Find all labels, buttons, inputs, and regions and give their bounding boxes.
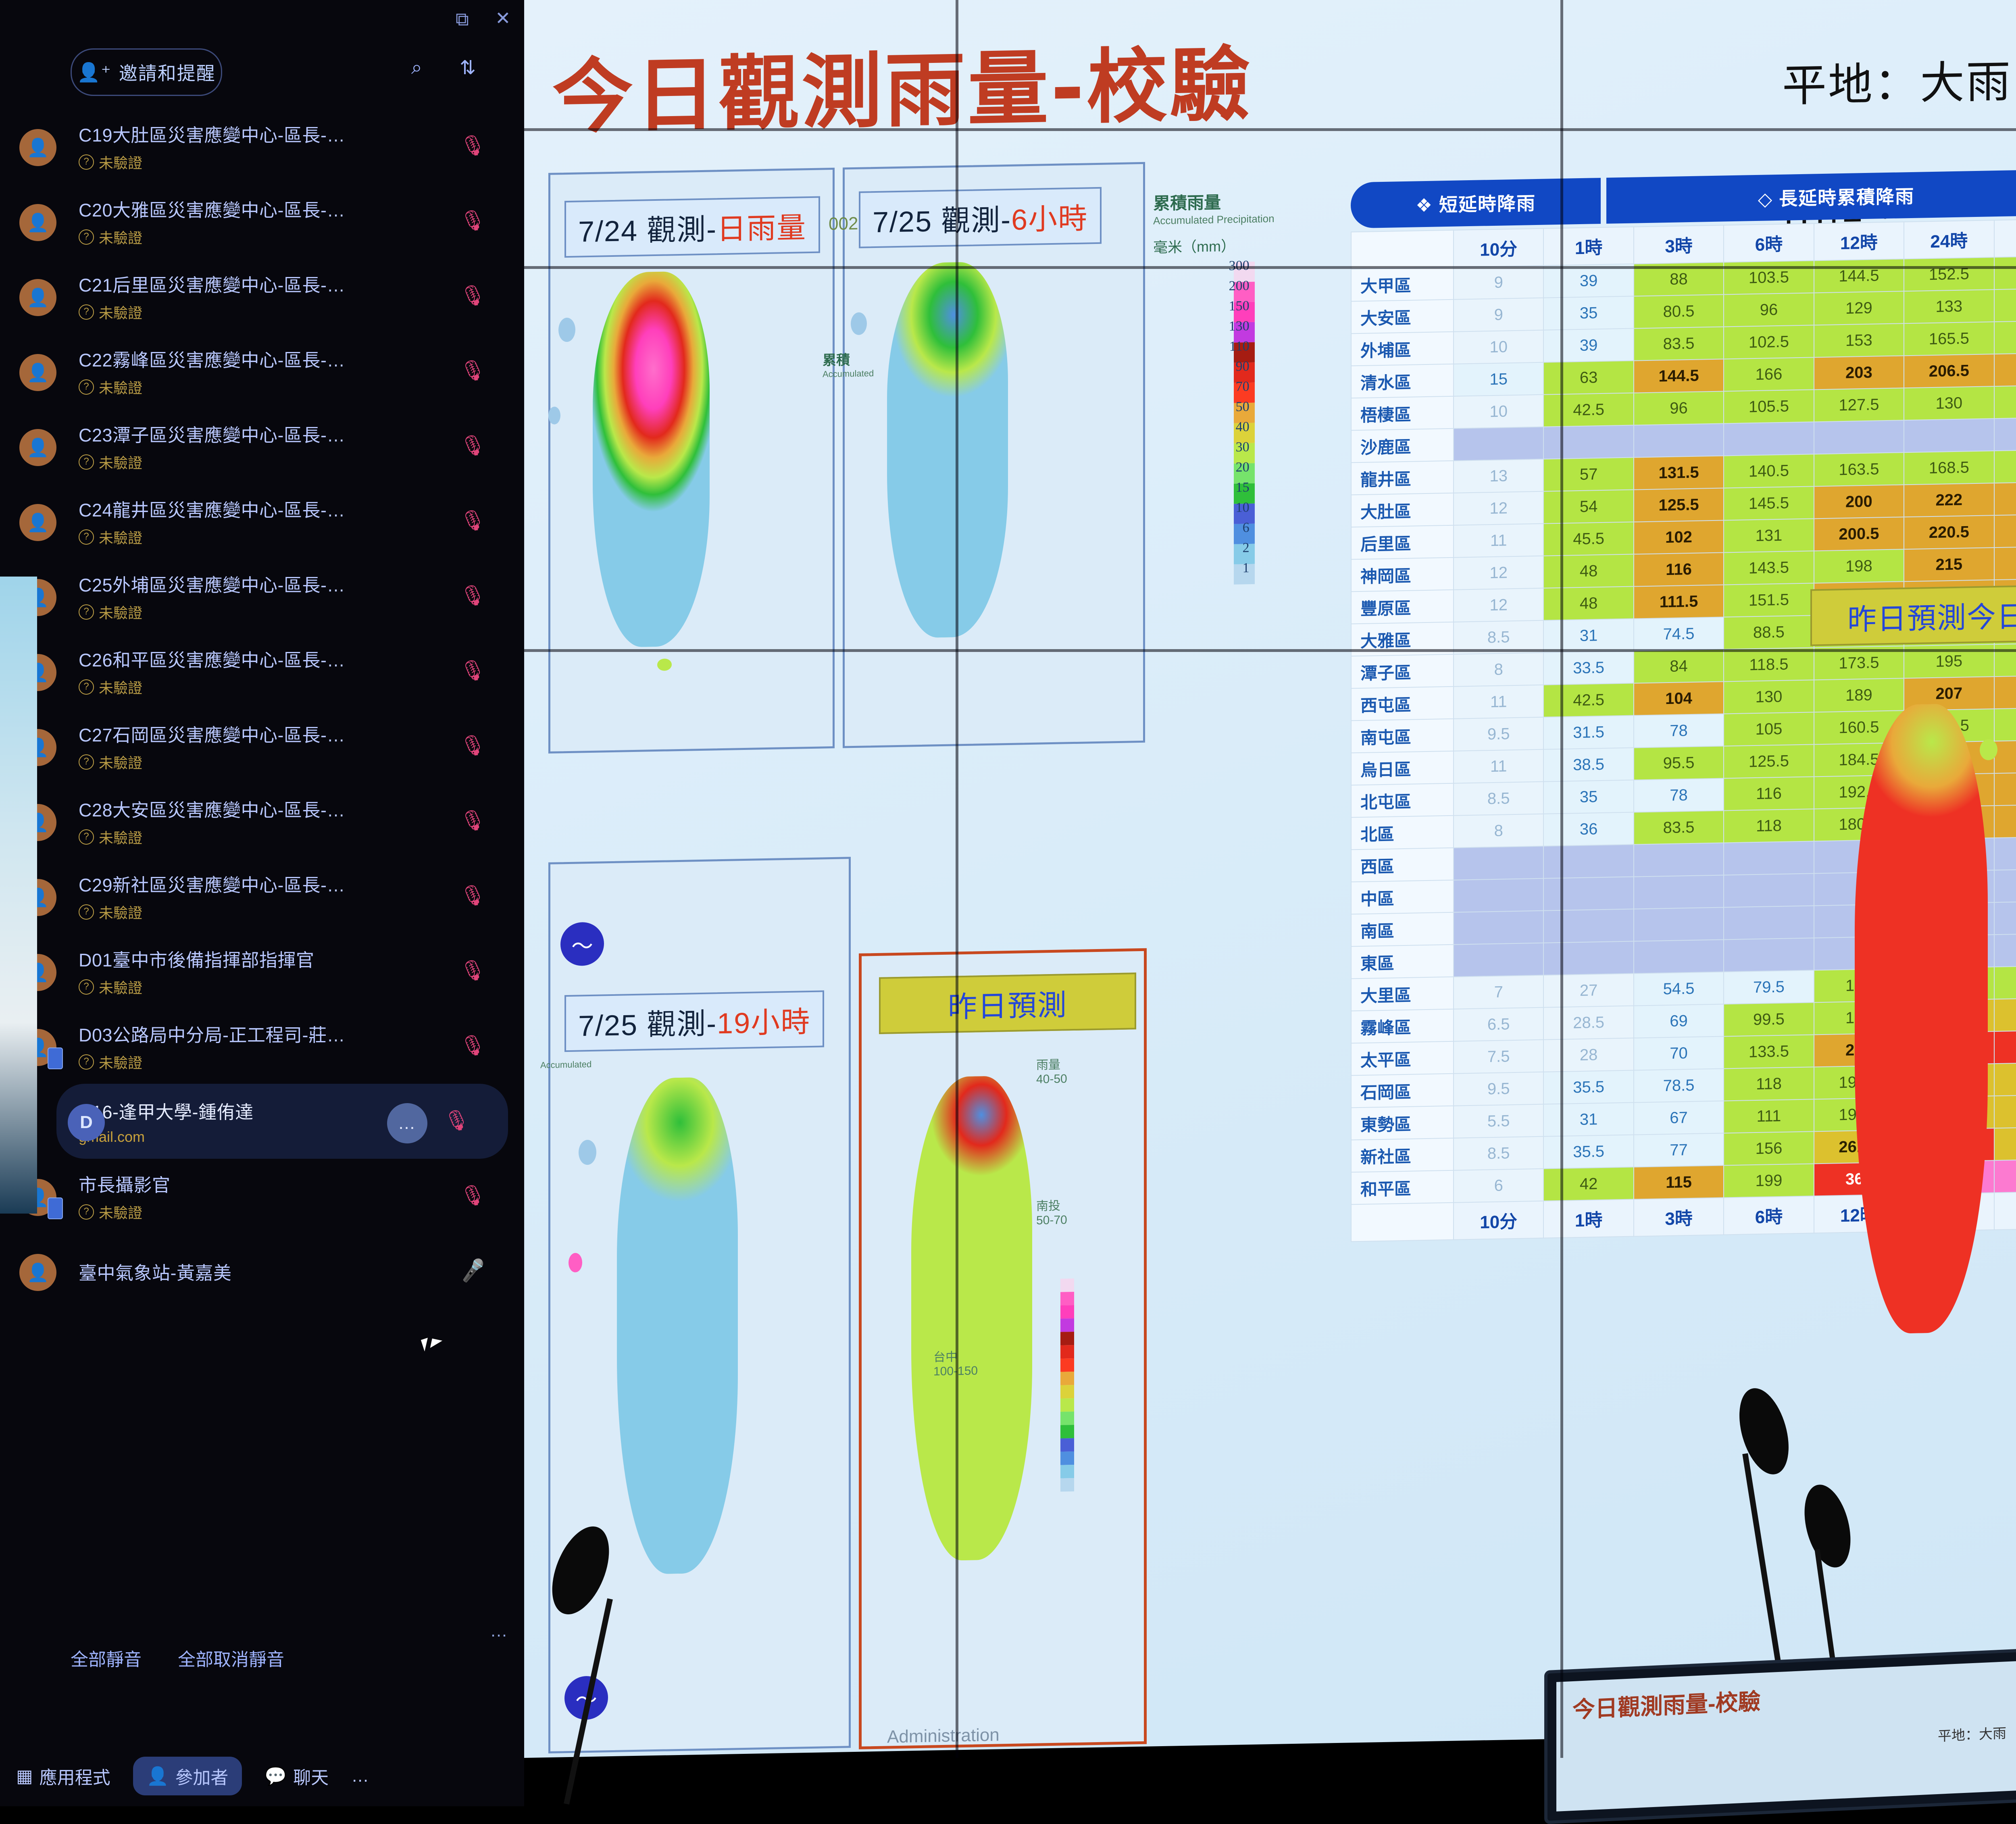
avatar: 👤 — [19, 279, 56, 316]
table-cell: 83.5 — [1634, 327, 1724, 360]
question-icon: ? — [79, 754, 94, 770]
table-row-region: 東區 — [1351, 945, 1454, 979]
participant-status: ?未驗證 — [79, 977, 314, 997]
participants-icon: 👤 — [147, 1766, 169, 1787]
question-icon: ? — [79, 904, 94, 920]
table-cell: 35 — [1543, 296, 1633, 330]
invite-label: 邀請和提醒 — [119, 59, 216, 85]
table-cell: 140.5 — [1724, 454, 1814, 488]
table-cell: 78 — [1634, 778, 1724, 812]
legend-tick-label: 130 — [1229, 319, 1250, 334]
table-column-header: 3時 — [1634, 225, 1724, 264]
microphone-muted-icon[interactable]: 🎙 — [458, 957, 487, 984]
question-icon: ? — [79, 1204, 94, 1220]
participant-status-label: 未驗證 — [99, 152, 142, 173]
participant-status: ?未驗證 — [79, 827, 345, 847]
table-cell: 118 — [1724, 1067, 1814, 1101]
microphone-muted-icon[interactable]: 🎙 — [458, 432, 487, 459]
participant-row[interactable]: 👤C27石岡區災害應變中心-區長-…?未驗證🎙 — [0, 709, 524, 784]
toolbar-apps-button[interactable]: ▦ 應用程式 — [16, 1763, 110, 1789]
table-cell: 38.5 — [1543, 748, 1633, 782]
group-header-short-label: 短延時降雨 — [1439, 193, 1536, 215]
table-cell: 118.5 — [1724, 648, 1814, 681]
table-cell: 203 — [1814, 356, 1904, 389]
table-cell: 163.5 — [1814, 452, 1904, 486]
participant-list[interactable]: 👤C19大肚區災害應變中心-區長-…?未驗證🎙👤C20大雅區災害應變中心-區長-… — [0, 109, 524, 1593]
participant-row[interactable]: 👤D03公路局中分局-正工程司-莊…?未驗證🎙 — [0, 1009, 524, 1084]
participant-status-label: 未驗證 — [99, 227, 142, 248]
table-cell: 78.5 — [1634, 1068, 1724, 1102]
table-column-header: 12時 — [1814, 222, 1904, 260]
adjacent-display-sliver — [0, 577, 37, 1214]
table-row-region: 大肚區 — [1351, 493, 1454, 527]
table-cell — [1724, 422, 1814, 456]
table-cell: 130 — [1904, 386, 1994, 420]
table-footer-header: 1時 — [1543, 1199, 1633, 1238]
participant-row[interactable]: 👤C19大肚區災害應變中心-區長-…?未驗證🎙 — [0, 109, 524, 184]
participant-row[interactable]: 👤C22霧峰區災害應變中心-區長-…?未驗證🎙 — [0, 334, 524, 409]
table-cell: 8.5 — [1454, 1137, 1543, 1170]
table-cell: 42 — [1543, 1167, 1633, 1201]
table-cell: 69 — [1634, 1004, 1724, 1038]
forecast-legend — [1060, 1272, 1074, 1492]
microphone-muted-icon[interactable]: 🎙 — [458, 1032, 487, 1059]
microphone-muted-icon[interactable]: 🎙 — [458, 282, 487, 309]
participant-name: C19大肚區災害應變中心-區長-… — [79, 121, 345, 147]
table-cell: 11 — [1454, 750, 1543, 783]
table-cell: 131 — [1724, 518, 1814, 552]
laptop-screen: 今日觀測雨量-校驗 平地：大雨 — [1544, 1648, 2016, 1824]
table-cell: 95.5 — [1634, 746, 1724, 780]
table-cell: 145.5 — [1724, 486, 1814, 520]
table-cell: 130 — [1724, 680, 1814, 714]
participant-status-label: 未驗證 — [99, 902, 142, 922]
table-cell: 8.5 — [1454, 782, 1543, 816]
toolbar-apps-label: 應用程式 — [40, 1763, 110, 1789]
laptop-slide-title: 今日觀測雨量-校驗 — [1572, 1683, 1761, 1724]
forecast-colorbar — [1060, 1278, 1074, 1492]
table-row-region: 梧棲區 — [1351, 396, 1454, 431]
participant-name: C24龍井區災害應變中心-區長-… — [79, 496, 345, 522]
legend-title: 累積雨量 — [1153, 188, 1275, 215]
laptop-slide-subtitle: 平地：大雨 — [1938, 1722, 2006, 1745]
table-row-region: 太平區 — [1351, 1041, 1454, 1076]
table-cell — [1543, 941, 1633, 975]
participant-row[interactable]: 👤D01臺中市後備指揮部指揮官?未驗證🎙 — [0, 934, 524, 1009]
legend-swatch — [1060, 1332, 1074, 1345]
table-cell — [1724, 938, 1814, 972]
table-cell: 168.5 — [1904, 451, 1994, 485]
laptop-slide-preview: 今日觀測雨量-校驗 平地：大雨 — [1556, 1660, 2016, 1812]
table-cell — [1724, 841, 1814, 875]
toolbar-chat-button[interactable]: 💬 聊天 — [264, 1763, 329, 1789]
participant-status: ?未驗證 — [79, 527, 345, 548]
microphone-muted-icon[interactable]: 🎙 — [458, 132, 487, 159]
avatar: 👤 — [19, 429, 56, 466]
legend-swatch — [1060, 1438, 1074, 1452]
table-cell: 211 — [1994, 546, 2016, 580]
map-label-725-19h: 7/25 觀測-19小時 — [564, 990, 824, 1052]
microphone-muted-icon[interactable]: 🎙 — [458, 1182, 487, 1209]
table-cell: 116 — [1724, 777, 1814, 810]
table-footer-header: 10分 — [1454, 1201, 1543, 1240]
legend-tick-label: 90 — [1236, 359, 1250, 375]
table-row-region: 大安區 — [1351, 300, 1454, 334]
table-cell: 166 — [1724, 357, 1814, 391]
participant-status-label: 未驗證 — [99, 302, 142, 323]
table-cell: 5.5 — [1454, 1104, 1543, 1138]
table-row-region: 烏日區 — [1351, 751, 1454, 785]
participant-row[interactable]: 👤市長攝影官?未驗證🎙 — [0, 1159, 524, 1234]
rain-short-icon: ❖ — [1416, 194, 1439, 216]
participant-row[interactable]: 👤C23潭子區災害應變中心-區長-…?未驗證🎙 — [0, 409, 524, 484]
video-conference-panel: ⧉ ✕ 👤⁺ 邀請和提醒 ⌕ ⇅ 👤C19大肚區災害應變中心-區長-…?未驗證🎙… — [0, 0, 524, 1806]
table-cell — [1814, 420, 1904, 454]
participant-name: D01臺中市後備指揮部指揮官 — [79, 945, 314, 972]
table-row-region: 中區 — [1351, 880, 1454, 914]
table-column-header: 24時 — [1904, 220, 1994, 259]
participant-row[interactable]: DD16-逢甲大學-鍾侑達gmail.com…🎙 — [56, 1084, 508, 1159]
participant-name: C26和平區災害應變中心-區長-… — [79, 645, 345, 672]
microphone-muted-icon[interactable]: 🎙 — [458, 807, 487, 834]
participant-status: ?未驗證 — [79, 752, 345, 772]
table-cell: 12 — [1454, 588, 1543, 622]
table-cell: 102 — [1634, 520, 1724, 554]
participant-status: gmail.com — [79, 1129, 254, 1145]
table-cell: 151.5 — [1994, 256, 2016, 289]
avatar: 👤 — [19, 504, 56, 541]
table-footer-header: 6時 — [1724, 1196, 1814, 1235]
table-cell: 57 — [1543, 458, 1633, 491]
participant-status: ?未驗證 — [79, 152, 345, 173]
phone-badge-icon — [48, 1047, 63, 1069]
question-icon: ? — [79, 154, 94, 170]
forecast-legend-mini-label2: 南投50-70 — [1036, 1195, 1067, 1227]
legend-tick-label: 6 — [1243, 520, 1250, 535]
map-label-725-6h-hl: 6小時 — [1011, 202, 1088, 236]
microphone-icon[interactable]: 🎤 — [459, 1257, 487, 1284]
participant-name: C25外埔區災害應變中心-區長-… — [79, 571, 345, 597]
table-cell: 222 — [1904, 483, 1994, 517]
microphone-muted-icon[interactable]: 🎙 — [442, 1107, 471, 1134]
table-cell: 31 — [1543, 1103, 1633, 1137]
table-cell: 102.5 — [1724, 325, 1814, 359]
table-row-region: 龍井區 — [1351, 461, 1454, 495]
participant-status-label: 未驗證 — [99, 527, 142, 548]
legend-swatch — [1060, 1478, 1074, 1492]
table-cell — [1543, 425, 1633, 459]
table-cell: 7.5 — [1454, 1040, 1543, 1074]
table-cell: 167.5 — [1994, 449, 2016, 483]
legend-small-title-en: Accumulated — [823, 368, 874, 379]
table-cell — [1634, 843, 1724, 877]
participant-status: ?未驗證 — [79, 1201, 171, 1222]
vc-bottom-toolbar: ▦ 應用程式 👤 參加者 💬 聊天 … — [0, 1746, 524, 1806]
taiwan-forecast-today-map — [1806, 665, 2016, 1460]
table-cell: 153 — [1814, 323, 1904, 357]
table-cell: 125.5 — [1634, 488, 1724, 522]
table-group-headers: ❖ 短延時降雨 ◇ 長延時累積降雨 — [1351, 169, 2016, 228]
participant-status-label: 未驗證 — [99, 452, 142, 473]
table-cell: 9.5 — [1454, 1072, 1543, 1106]
table-cell: 104 — [1634, 681, 1724, 715]
table-cell: 78 — [1634, 714, 1724, 748]
table-cell: 35.5 — [1543, 1070, 1633, 1104]
table-column-header: 6時 — [1724, 223, 1814, 262]
table-cell: 42.5 — [1543, 393, 1633, 427]
table-cell — [1454, 879, 1543, 912]
person-add-icon: 👤⁺ — [77, 61, 112, 83]
plain-rain-statement: 平地：大雨 — [1782, 45, 2012, 114]
mute-controls: 全部靜音 全部取消靜音 — [71, 1645, 284, 1671]
table-row-region: 豐原區 — [1351, 590, 1454, 624]
legend-small: 累積 Accumulated — [823, 348, 874, 379]
avatar: 👤 — [19, 1254, 56, 1291]
table-cell: 133 — [1904, 289, 1994, 323]
table-cell: 45.5 — [1543, 522, 1633, 556]
forecast-legend-mini-label: 雨量40-50 — [1036, 1054, 1067, 1086]
table-cell: 96 — [1724, 293, 1814, 327]
participant-status: ?未驗證 — [79, 377, 345, 398]
microphone-muted-icon[interactable]: 🎙 — [458, 357, 487, 384]
participant-row[interactable]: 👤C24龍井區災害應變中心-區長-…?未驗證🎙 — [0, 484, 524, 559]
table-cell: 116 — [1634, 552, 1724, 586]
group-header-short: ❖ 短延時降雨 — [1351, 178, 1601, 228]
table-column-header: 10分 — [1454, 229, 1543, 267]
table-cell: 70 — [1634, 1036, 1724, 1070]
table-cell: 144.5 — [1814, 259, 1904, 293]
table-cell: 83.5 — [1634, 810, 1724, 844]
table-cell: 77 — [1634, 1133, 1724, 1167]
legend-swatch — [1060, 1385, 1074, 1399]
legend-swatch — [1060, 1465, 1074, 1478]
table-cell: 131.5 — [1634, 456, 1724, 489]
table-cell: 84 — [1634, 649, 1724, 683]
table-row-region: 和平區 — [1351, 1170, 1454, 1205]
table-cell: 74.5 — [1634, 617, 1724, 651]
participant-row[interactable]: 👤臺中氣象站-黃嘉美🎤 — [0, 1234, 524, 1309]
participant-status-label: 未驗證 — [99, 752, 142, 772]
participant-name: C28大安區災害應變中心-區長-… — [79, 795, 345, 822]
participant-name: C29新社區災害應變中心-區長-… — [79, 870, 345, 897]
participant-status-label: 未驗證 — [99, 977, 142, 997]
table-row-region: 北屯區 — [1351, 783, 1454, 818]
table-row-region: 潭子區 — [1351, 654, 1454, 689]
legend-swatch — [1060, 1305, 1074, 1319]
table-column-header: 1時 — [1543, 227, 1633, 266]
toolbar-participants-button[interactable]: 👤 參加者 — [133, 1757, 242, 1795]
table-cell: 8 — [1454, 653, 1543, 687]
microphone-muted-icon[interactable]: 🎙 — [458, 207, 487, 234]
table-cell: 129 — [1814, 291, 1904, 325]
table-cell: 27 — [1543, 974, 1633, 1008]
participant-status: ?未驗證 — [79, 902, 345, 922]
table-cell: 31.5 — [1543, 716, 1633, 750]
table-cell: 111.5 — [1634, 585, 1724, 618]
microphone-muted-icon[interactable]: 🎙 — [458, 507, 487, 534]
table-cell: 125.5 — [1724, 744, 1814, 778]
table-cell: 206.5 — [1904, 354, 1994, 388]
participant-row[interactable]: 👤C29新社區災害應變中心-區長-…?未驗證🎙 — [0, 859, 524, 934]
table-cell: 111 — [1724, 1099, 1814, 1133]
table-cell: 156 — [1724, 1131, 1814, 1165]
participant-status: ?未驗證 — [79, 602, 345, 623]
table-cell: 118 — [1724, 809, 1814, 843]
legend-swatch — [1060, 1278, 1074, 1292]
table-cell: 10 — [1454, 395, 1543, 429]
table-cell: 200.5 — [1814, 517, 1904, 551]
table-cell: 6.5 — [1454, 1008, 1543, 1041]
table-cell: 133.5 — [1724, 1035, 1814, 1068]
table-cell: 130 — [1994, 385, 2016, 419]
toolbar-chat-label: 聊天 — [293, 1763, 329, 1789]
panel-more-icon[interactable]: … — [490, 1621, 508, 1641]
table-cell: 88.5 — [1724, 615, 1814, 649]
table-cell — [1454, 846, 1543, 880]
question-icon: ? — [79, 604, 94, 620]
table-row-region: 北區 — [1351, 816, 1454, 850]
participant-status: ?未驗證 — [79, 302, 345, 323]
table-cell: 198 — [1814, 549, 1904, 583]
table-footer-header — [1351, 1203, 1454, 1242]
projected-slide: 今日觀測雨量-校驗 7/24 觀測-日雨量 〜 7/25 觀測-6小時 0020… — [524, 0, 2016, 1758]
sort-icon[interactable]: ⇅ — [460, 56, 476, 79]
legend-tick-label: 1 — [1243, 560, 1250, 576]
table-cell — [1543, 845, 1633, 879]
table-row-region: 西屯區 — [1351, 687, 1454, 721]
question-icon: ? — [79, 829, 94, 845]
legend-swatch — [1060, 1451, 1074, 1465]
apps-icon: ▦ — [16, 1766, 33, 1787]
table-cell: 7 — [1454, 975, 1543, 1009]
new-window-icon[interactable]: ⧉ — [456, 8, 469, 31]
table-cell: 36 — [1543, 812, 1633, 846]
table-cell: 99.5 — [1724, 1002, 1814, 1036]
participant-status-label: 未驗證 — [99, 377, 142, 398]
participant-row[interactable]: 👤C21后里區災害應變中心-區長-…?未驗證🎙 — [0, 259, 524, 334]
legend-tick-label: 50 — [1236, 399, 1250, 415]
table-cell — [1634, 875, 1724, 909]
projector-seam-vertical-1 — [956, 0, 958, 1758]
participant-status-label: 未驗證 — [99, 1201, 142, 1222]
participant-status-label: 未驗證 — [99, 1052, 142, 1072]
table-cell: 218.5 — [1994, 481, 2016, 515]
participant-name: D03公路局中分局-正工程司-莊… — [79, 1020, 345, 1047]
group-header-long-label: 長延時累積降雨 — [1779, 186, 1914, 209]
table-cell: 105.5 — [1724, 389, 1814, 423]
table-row-region: 外埔區 — [1351, 332, 1454, 366]
rain-long-icon: ◇ — [1758, 188, 1779, 210]
table-cell: 8 — [1454, 814, 1543, 848]
table-cell: 151.5 — [1724, 583, 1814, 617]
table-cell: 9.5 — [1454, 717, 1543, 751]
table-row-region: 沙鹿區 — [1351, 429, 1454, 463]
projector-seam-horizontal-3 — [524, 649, 2016, 652]
legend-title-en: Accumulated Precipitation — [1153, 212, 1275, 227]
mute-all-button[interactable]: 全部靜音 — [71, 1645, 142, 1671]
participant-name: D16-逢甲大學-鍾侑達 — [79, 1097, 254, 1124]
participant-status-label: 未驗證 — [99, 677, 142, 698]
legend-colorbar: 3002001501301109070504030201510621 — [1234, 261, 1275, 585]
participant-status: ?未驗證 — [79, 677, 345, 698]
table-cell: 63 — [1543, 361, 1633, 395]
participant-row[interactable]: 👤C20大雅區災害應變中心-區長-…?未驗證🎙 — [0, 184, 524, 259]
table-cell: 127.5 — [1814, 388, 1904, 422]
participant-name: C23潭子區災害應變中心-區長-… — [79, 421, 345, 447]
legend-swatch — [1060, 1292, 1074, 1306]
avatar: D — [68, 1104, 105, 1141]
table-cell — [1904, 419, 1994, 452]
participant-more-button[interactable]: … — [387, 1103, 427, 1143]
avatar: 👤 — [19, 129, 56, 166]
table-cell — [1543, 877, 1633, 911]
legend-small-2: Accumulated — [540, 1059, 591, 1070]
participant-name: C22霧峰區災害應變中心-區長-… — [79, 346, 345, 372]
table-row-region: 清水區 — [1351, 364, 1454, 398]
search-icon[interactable]: ⌕ — [411, 56, 422, 79]
table-row-region: 東勢區 — [1351, 1106, 1454, 1140]
table-cell: 33.5 — [1543, 651, 1633, 685]
table-cell: 13 — [1454, 459, 1543, 493]
map-label-724-hl: 日雨量 — [717, 212, 806, 246]
microphone-muted-icon[interactable]: 🎙 — [458, 657, 487, 684]
table-cell — [1454, 943, 1543, 977]
table-cell: 48 — [1543, 587, 1633, 620]
legend-tick-label: 40 — [1236, 419, 1250, 435]
question-icon: ? — [79, 229, 94, 245]
table-cell: 206.5 — [1994, 352, 2016, 386]
microphone-muted-icon[interactable]: 🎙 — [458, 882, 487, 909]
forecast-today-label: 昨日預測今日 — [1810, 585, 2016, 646]
legend-small-title: 累積 — [823, 348, 874, 369]
table-cell — [1724, 873, 1814, 907]
unmute-all-button[interactable]: 全部取消靜音 — [178, 1645, 284, 1671]
table-row-region: 大甲區 — [1351, 267, 1454, 302]
table-cell — [1724, 906, 1814, 939]
microphone-muted-icon[interactable]: 🎙 — [458, 582, 487, 609]
phone-badge-icon — [48, 1197, 63, 1219]
table-cell: 12 — [1454, 556, 1543, 590]
toolbar-more-button[interactable]: … — [351, 1766, 369, 1786]
table-cell — [1543, 909, 1633, 943]
legend-swatch — [1060, 1412, 1074, 1425]
invite-and-remind-button[interactable]: 👤⁺ 邀請和提醒 — [71, 48, 222, 96]
participant-row[interactable]: 👤C25外埔區災害應變中心-區長-…?未驗證🎙 — [0, 559, 524, 634]
map-label-725-6h-pre: 7/25 觀測- — [873, 204, 1011, 239]
table-cell: 28.5 — [1543, 1006, 1633, 1040]
question-icon: ? — [79, 1054, 94, 1070]
participant-row[interactable]: 👤C26和平區災害應變中心-區長-…?未驗證🎙 — [0, 634, 524, 709]
participant-row[interactable]: 👤C28大安區災害應變中心-區長-…?未驗證🎙 — [0, 784, 524, 859]
vc-topbar: ⧉ ✕ — [0, 0, 524, 48]
table-column-header: 今日 — [1994, 219, 2016, 257]
table-cell: 215 — [1904, 548, 1994, 581]
table-cell: 42.5 — [1543, 683, 1633, 717]
table-cell: 143.5 — [1724, 551, 1814, 585]
table-cell — [1454, 911, 1543, 945]
microphone-muted-icon[interactable]: 🎙 — [458, 732, 487, 759]
participant-status: ?未驗證 — [79, 227, 345, 248]
table-cell — [1994, 417, 2016, 451]
close-icon[interactable]: ✕ — [495, 7, 511, 29]
participant-name: 臺中氣象站-黃嘉美 — [79, 1258, 232, 1285]
table-cell: 9 — [1454, 298, 1543, 332]
table-cell: 54.5 — [1634, 972, 1724, 1006]
table-cell: 80.5 — [1634, 294, 1724, 328]
legend-tick-label: 15 — [1236, 480, 1250, 496]
toolbar-more-label: … — [351, 1766, 369, 1786]
table-cell: 103.5 — [1724, 260, 1814, 294]
